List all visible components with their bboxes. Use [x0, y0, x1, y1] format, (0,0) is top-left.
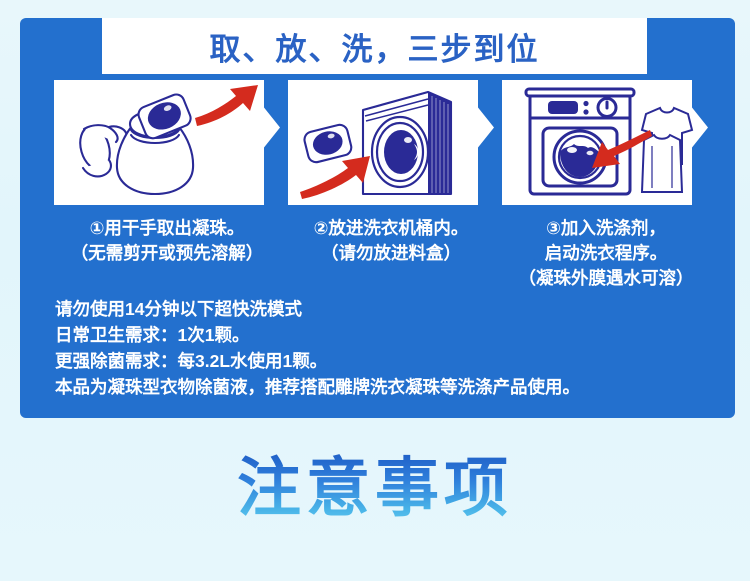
note-line: 请勿使用14分钟以下超快洗模式 [55, 296, 720, 322]
note-line: 更强除菌需求：每3.2L水使用1颗。 [55, 348, 720, 374]
steps-row [20, 80, 735, 208]
step-caption-1: ①用干手取出凝珠。 （无需剪开或预先溶解） [42, 216, 292, 266]
caption-line: ③加入洗涤剂， [486, 216, 726, 241]
washing-machine-drum-illustration [288, 80, 494, 205]
note-line: 本品为凝珠型衣物除菌液，推荐搭配雕牌洗衣凝珠等洗涤产品使用。 [55, 374, 720, 400]
step-panel-3 [502, 80, 708, 205]
caption-line: 启动洗衣程序。 [486, 241, 726, 266]
note-line: 日常卫生需求：1次1颗。 [55, 322, 720, 348]
step-caption-3: ③加入洗涤剂， 启动洗衣程序。 （凝珠外膜遇水可溶） [486, 216, 726, 291]
step-panel-2 [288, 80, 494, 205]
section-heading-precautions: 注意事项 [0, 452, 750, 526]
caption-line: （凝珠外膜遇水可溶） [486, 266, 726, 291]
caption-line: （无需剪开或预先溶解） [42, 241, 292, 266]
step-caption-2: ②放进洗衣机桶内。 （请勿放进料盒） [278, 216, 504, 266]
page-root: 取、放、洗，三步到位 [0, 0, 750, 581]
washing-machine-with-clothes-illustration [502, 80, 708, 205]
caption-line: （请勿放进料盒） [278, 241, 504, 266]
title-banner: 取、放、洗，三步到位 [102, 18, 647, 74]
jar-with-pod-illustration [54, 80, 280, 205]
instruction-panel: 取、放、洗，三步到位 [20, 18, 735, 418]
caption-line: ②放进洗衣机桶内。 [278, 216, 504, 241]
step-panel-1 [54, 80, 280, 205]
caption-line: ①用干手取出凝珠。 [42, 216, 292, 241]
usage-notes: 请勿使用14分钟以下超快洗模式 日常卫生需求：1次1颗。 更强除菌需求：每3.2… [55, 296, 720, 400]
page-title: 取、放、洗，三步到位 [102, 18, 647, 74]
